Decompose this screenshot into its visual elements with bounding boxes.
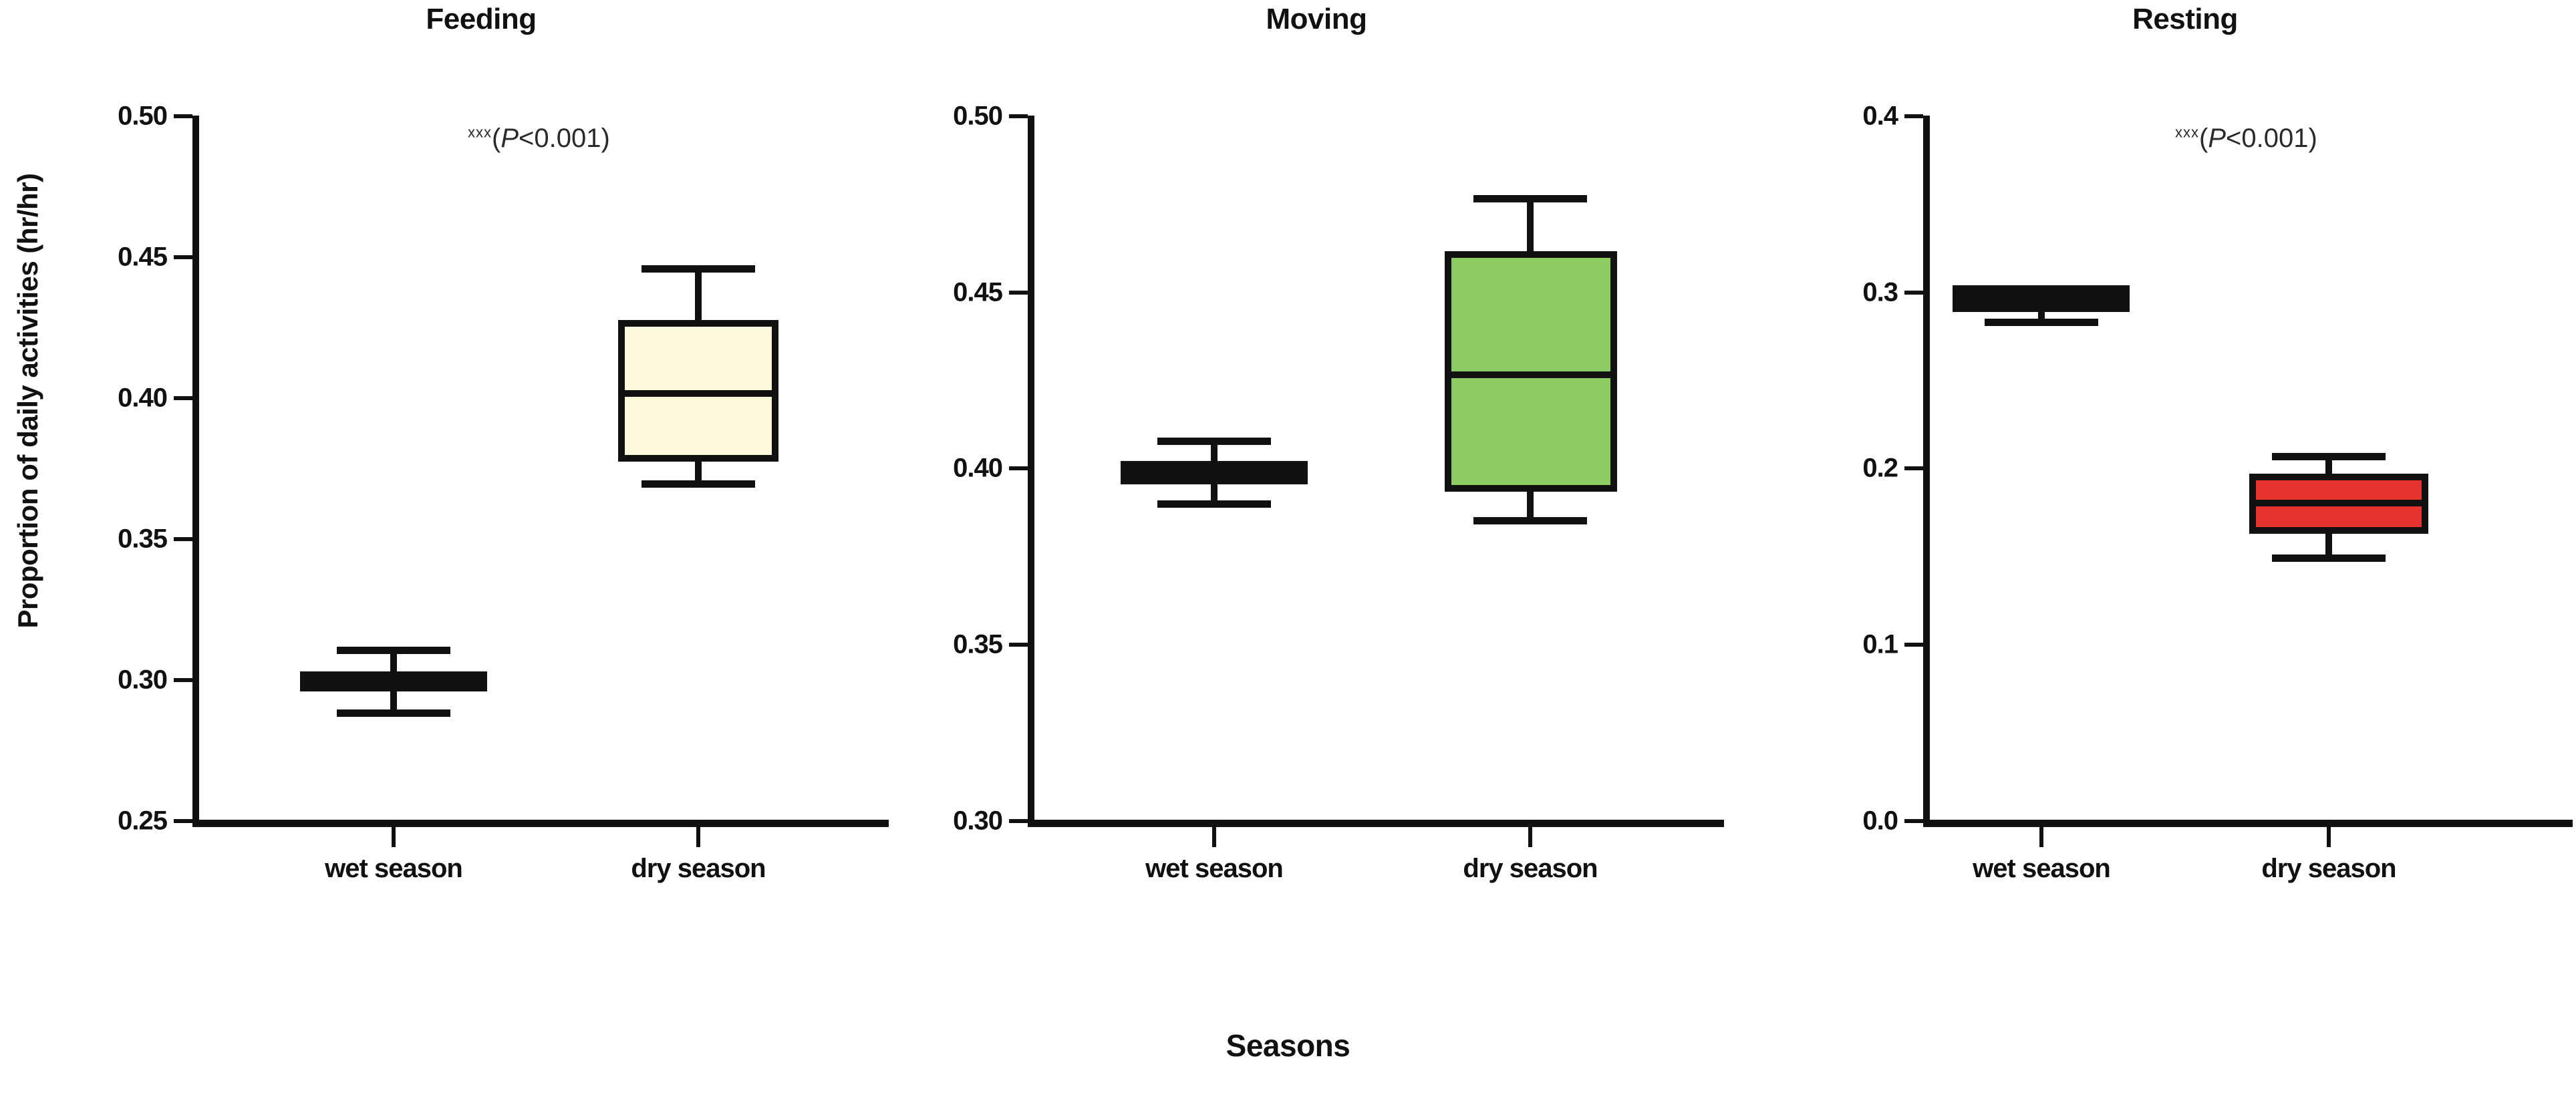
- panel-resting: Resting xxx(P<0.001) 0.4 0.3 0.2 0.1 0.0: [1804, 0, 2573, 949]
- median-line: [2249, 500, 2428, 506]
- y-tick-resting: [1904, 643, 1923, 647]
- y-tick-label-resting: 0.3: [1757, 278, 1898, 308]
- x-axis-line-moving: [1028, 820, 1724, 827]
- whisker-lower: [1527, 488, 1534, 521]
- whisker-upper: [695, 265, 702, 322]
- y-tick-feeding: [174, 678, 192, 682]
- whisker-upper: [1211, 438, 1218, 464]
- y-axis-line-moving: [1028, 116, 1034, 824]
- x-tick-feeding-dry: [696, 827, 700, 847]
- y-tick-resting: [1904, 291, 1923, 295]
- x-tick-resting-dry: [2327, 827, 2331, 847]
- y-tick-label-moving: 0.50: [862, 102, 1002, 132]
- y-tick-resting: [1904, 819, 1923, 823]
- y-tick-moving: [1009, 643, 1028, 647]
- x-axis-title: Seasons: [0, 1027, 2576, 1064]
- y-tick-label-resting: 0.1: [1757, 630, 1898, 660]
- x-tick-moving-dry: [1528, 827, 1532, 847]
- panel-moving: Moving 0.50 0.45 0.40 0.35 0.30: [902, 0, 1731, 949]
- whisker-upper: [1527, 195, 1534, 255]
- y-tick-label-resting: 0.4: [1757, 102, 1898, 132]
- y-tick-moving: [1009, 114, 1028, 118]
- median-line: [1445, 371, 1617, 378]
- x-tick-label-resting-dry: dry season: [2261, 854, 2396, 884]
- x-tick-label-feeding-wet: wet season: [325, 854, 462, 884]
- median-line: [1121, 469, 1308, 476]
- panel-feeding: Feeding xxx(P<0.001) 0.50 0.45 0.40 0.35…: [67, 0, 895, 949]
- whisker-cap-lower: [337, 709, 450, 717]
- plot-area-resting: 0.4 0.3 0.2 0.1 0.0: [1804, 0, 2573, 949]
- x-tick-resting-wet: [2039, 827, 2043, 847]
- x-tick-feeding-wet: [392, 827, 396, 847]
- y-tick-label-resting: 0.2: [1757, 454, 1898, 484]
- y-tick-label-feeding: 0.30: [27, 665, 167, 695]
- y-tick-feeding: [174, 396, 192, 400]
- x-tick-label-feeding-dry: dry season: [631, 854, 765, 884]
- y-tick-label-feeding: 0.35: [27, 524, 167, 554]
- plot-area-feeding: 0.50 0.45 0.40 0.35 0.30 0.25: [67, 0, 895, 949]
- median-line: [1953, 296, 2130, 303]
- x-axis-line-feeding: [192, 820, 889, 827]
- y-tick-label-moving: 0.45: [862, 278, 1002, 308]
- y-tick-label-feeding: 0.40: [27, 383, 167, 414]
- y-tick-moving: [1009, 466, 1028, 470]
- whisker-cap-lower: [2272, 554, 2386, 562]
- x-tick-label-resting-wet: wet season: [1973, 854, 2110, 884]
- y-tick-moving: [1009, 291, 1028, 295]
- y-tick-resting: [1904, 466, 1923, 470]
- y-tick-resting: [1904, 114, 1923, 118]
- whisker-cap-lower: [1985, 319, 2098, 326]
- y-tick-feeding: [174, 537, 192, 541]
- y-tick-label-moving: 0.40: [862, 454, 1002, 484]
- y-tick-label-moving: 0.35: [862, 630, 1002, 660]
- y-tick-label-moving: 0.30: [862, 806, 1002, 836]
- y-tick-feeding: [174, 819, 192, 823]
- median-line: [300, 677, 487, 684]
- y-tick-feeding: [174, 114, 192, 118]
- y-tick-label-feeding: 0.50: [27, 102, 167, 132]
- x-tick-label-moving-wet: wet season: [1145, 854, 1283, 884]
- figure-canvas: Proportion of daily activities (hr/hr) F…: [0, 0, 2576, 1113]
- median-line: [618, 390, 778, 397]
- whisker-cap-lower: [1473, 517, 1587, 524]
- y-tick-label-resting: 0.0: [1757, 806, 1898, 836]
- x-tick-moving-wet: [1212, 827, 1216, 847]
- whisker-cap-lower: [641, 480, 755, 488]
- x-tick-label-moving-dry: dry season: [1463, 854, 1597, 884]
- y-tick-label-feeding: 0.45: [27, 243, 167, 273]
- x-axis-line-resting: [1923, 820, 2573, 827]
- y-tick-feeding: [174, 255, 192, 259]
- plot-area-moving: 0.50 0.45 0.40 0.35 0.30: [902, 0, 1731, 949]
- y-tick-moving: [1009, 819, 1028, 823]
- y-tick-label-feeding: 0.25: [27, 806, 167, 836]
- y-axis-line-feeding: [192, 116, 199, 824]
- y-axis-line-resting: [1923, 116, 1930, 824]
- whisker-cap-lower: [1157, 500, 1271, 508]
